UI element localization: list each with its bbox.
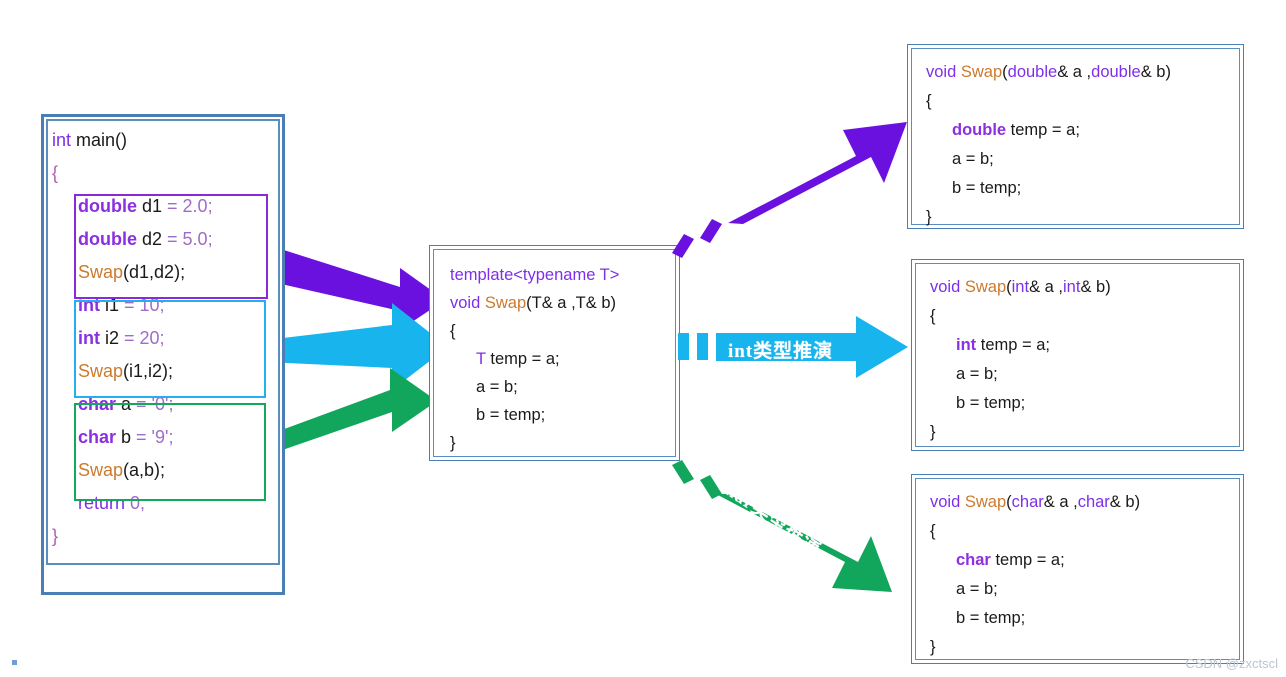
arrow-label-int: int类型推演 bbox=[728, 336, 833, 363]
corner-marker-dot bbox=[12, 660, 17, 665]
watermark: CSDN @zxctscl bbox=[1185, 656, 1278, 671]
diagram-canvas: int main() { double d1 = 2.0; double d2 … bbox=[0, 0, 1286, 677]
arrow-layer-right bbox=[0, 0, 1286, 677]
